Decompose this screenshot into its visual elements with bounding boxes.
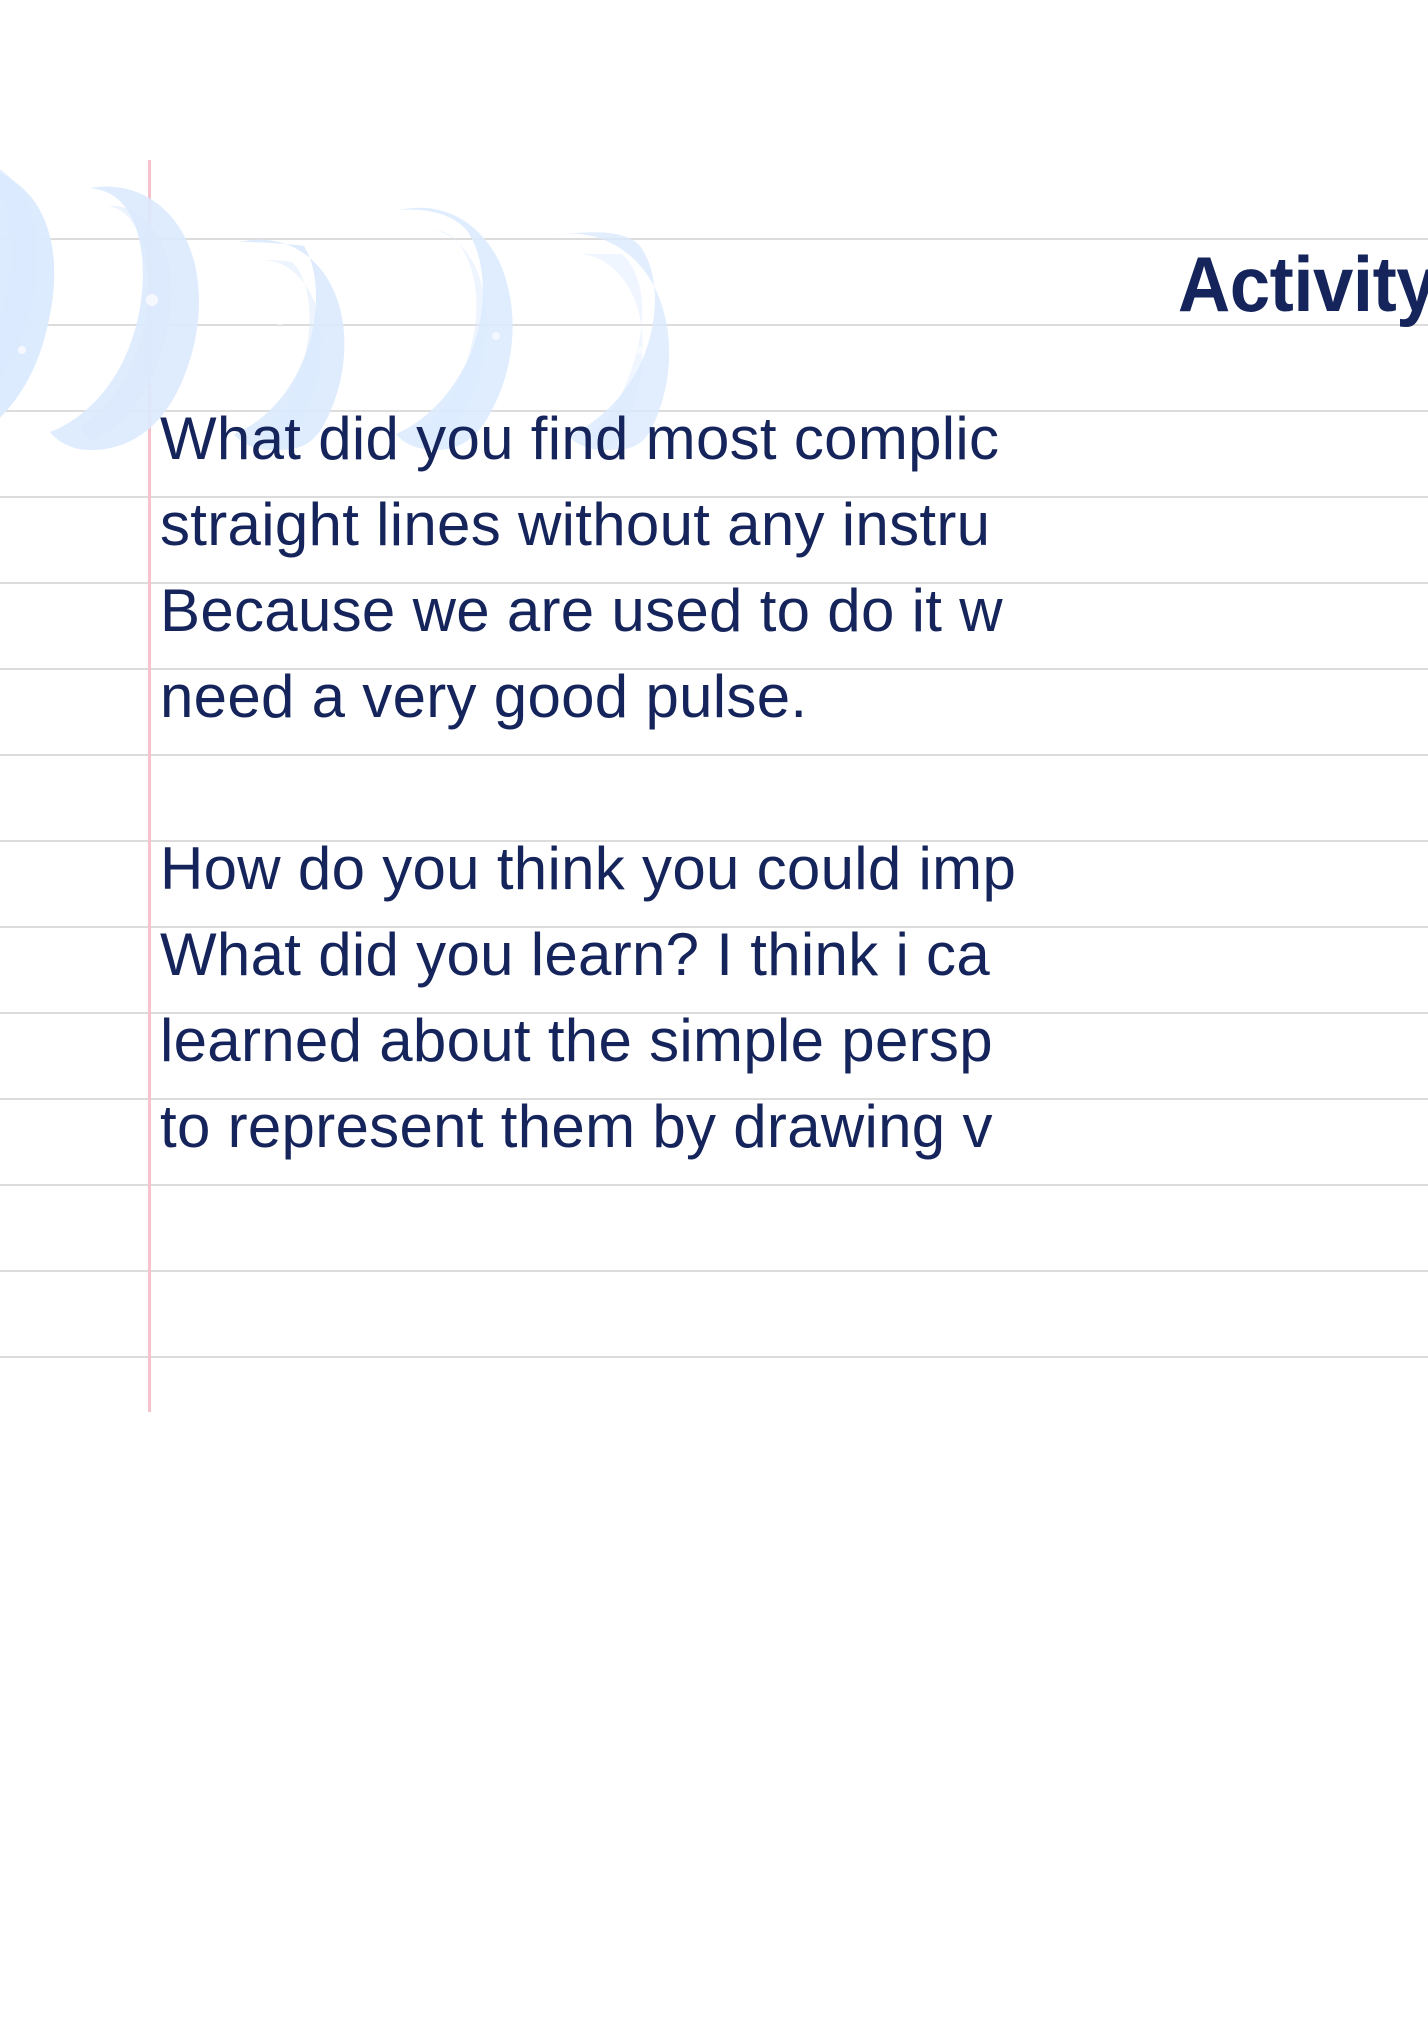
page-title-text: Activity [1178, 236, 1428, 332]
text-line-blank [160, 740, 1428, 826]
answers-text-block: What did you find most complic straight … [160, 396, 1428, 1316]
text-line: straight lines without any instru [160, 482, 1428, 568]
text-line: learned about the simple persp [160, 998, 1428, 1084]
text-line: What did you find most complic [160, 396, 1428, 482]
notebook-page: Activity What did you find most complic … [0, 0, 1428, 2018]
text-line: to represent them by drawing v [160, 1084, 1428, 1170]
margin-line [148, 160, 151, 1412]
text-line: How do you think you could imp [160, 826, 1428, 912]
text-line: Because we are used to do it w [160, 568, 1428, 654]
text-line: What did you learn? I think i ca [160, 912, 1428, 998]
page-title: Activity [0, 236, 1428, 336]
rule-line [0, 1356, 1428, 1358]
text-line: need a very good pulse. [160, 654, 1428, 740]
